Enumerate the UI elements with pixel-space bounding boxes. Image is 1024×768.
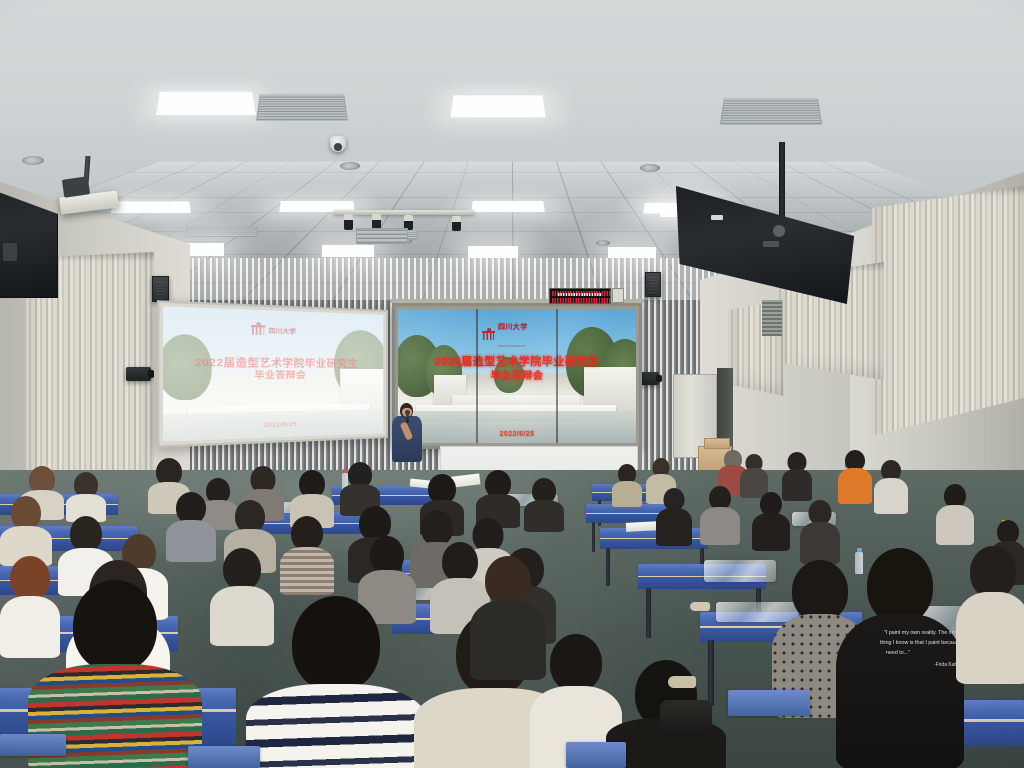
plastic-wrapped-package[interactable] [704,560,776,582]
desk-leg [606,548,610,586]
audience-member [340,462,380,512]
person-head [292,596,380,692]
audience-member [0,496,52,560]
desk-leg [646,588,651,638]
audience-member [280,516,334,588]
bench-seat[interactable] [0,734,66,756]
slide-title-line2: 毕业答辩会 [398,367,636,382]
person-head [970,546,1016,598]
person-body [874,478,908,514]
audience-member [612,464,642,504]
ceiling-air-vent [356,228,408,244]
audience-member [936,484,974,542]
university-crest-icon [482,329,495,340]
led-controller-box [612,288,624,303]
audience-member [166,492,216,556]
monitor-label-right [711,215,723,220]
led-ticker-highlight [558,293,602,296]
person-head [73,580,157,672]
bench-seat[interactable] [188,746,260,768]
tshirt-quote-line3: need to..." [886,650,910,657]
audience-member [874,460,908,512]
audience-member-left-edge [0,556,60,652]
shoe [668,676,696,688]
person-head [291,516,323,551]
track-light-head [344,214,353,230]
ceiling-speaker [596,240,610,246]
person-head [485,556,531,606]
audience-member-navy-stripe-polo [246,596,426,768]
person-body [838,468,872,504]
ceiling-light-panel [156,92,256,115]
person-head [10,556,50,600]
person-body [656,508,692,546]
projector-lens-assembly [62,176,90,197]
audience-member [800,500,840,560]
lecture-hall-photo: 四川大学 SICHUAN UNIVERSITY 2022届造型艺术学院毕业研究生… [0,0,1024,768]
slide-university-logo: 四川大学 SICHUAN UNIVERSITY [482,316,528,352]
monitor-port-right [763,241,779,247]
ceiling-light-panel [322,245,374,257]
wall-camera-left[interactable] [126,367,151,381]
audience-member [66,472,106,518]
eyeglasses-icon [845,462,863,468]
wall-speaker-left [152,276,169,302]
audience-member [752,492,790,548]
backpack-on-floor[interactable] [660,700,712,736]
desk-leg [592,522,595,552]
audience-member [838,450,872,502]
audience-member [476,470,520,524]
audience-member-with-cap [740,454,768,496]
ceiling-light-panel [471,201,545,212]
person-body [246,684,426,768]
person-body [612,481,642,507]
audience-member-frida-shirt [836,548,964,768]
person-head [421,510,453,546]
person-head [867,548,933,624]
tshirt-quote-line1: "I paint my own reality. The only [884,630,958,637]
projection-screen-left[interactable]: 四川大学 2022届造型艺术学院毕业研究生 毕业答辩会 2022/6/25 [157,300,388,448]
track-light-rail [334,210,474,215]
person-body [166,520,216,562]
presentation-slide-main: 四川大学 SICHUAN UNIVERSITY 2022届造型艺术学院毕业研究生… [398,309,636,443]
person-body [0,596,60,658]
led-ticker-sign [549,288,611,304]
person-body [280,547,334,595]
ceiling-speaker [22,156,44,165]
person-body [956,592,1024,684]
person-head [11,496,41,530]
audience-member-right-edge [956,546,1024,676]
ceiling-light-panel [111,201,191,213]
ceiling-air-vent [720,99,822,125]
ceiling-light-panel [608,247,656,258]
ceiling-light-panel [468,246,518,258]
person-body [936,505,974,545]
person-head [370,536,404,574]
person-head [550,634,602,692]
wall-panel-vent-right [762,300,782,336]
slide-date: 2022/6/25 [398,431,636,438]
person-body [800,522,840,564]
audience-member [524,478,564,528]
ceiling-dome-camera [330,136,346,152]
bench-seat[interactable] [566,742,626,768]
cardboard-box [704,438,730,449]
audience-member [700,486,740,542]
person-head [70,516,102,552]
monitor-logo-left [3,243,17,261]
bench-seat[interactable] [728,690,810,716]
handheld-microphone[interactable] [406,413,409,423]
person-body [524,500,564,532]
ceiling-light-panel [450,95,545,117]
tshirt-quote-line2: thing I know is that I paint because [880,640,961,647]
person-body [752,513,790,551]
audience-member [290,470,334,522]
ceiling-air-vent [185,227,259,237]
person-body [700,507,740,545]
projected-slide-left: 四川大学 2022届造型艺术学院毕业研究生 毕业答辩会 2022/6/25 [163,306,383,442]
ceiling-speaker [340,162,360,170]
slide-logo-text: 四川大学 [498,324,528,331]
audience-member [656,488,692,542]
track-light-head [452,216,461,231]
ceiling-speaker [640,164,660,172]
slide-logo-subtext: SICHUAN UNIVERSITY [498,345,526,348]
person-body [836,614,964,768]
monitor-camera-right [773,225,785,237]
ceiling-air-vent [256,95,348,121]
person-head [223,548,261,590]
shoe [690,602,710,611]
front-video-wall[interactable]: 四川大学 SICHUAN UNIVERSITY 2022届造型艺术学院毕业研究生… [392,303,642,449]
